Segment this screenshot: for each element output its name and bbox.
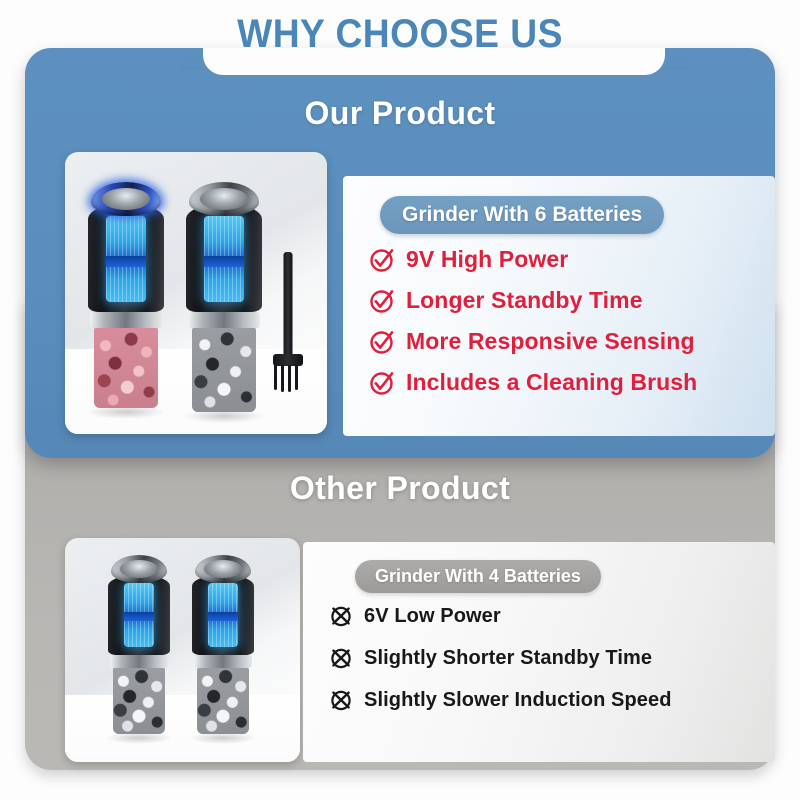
grey-salt-fill: [113, 668, 165, 734]
our-product-feature-list: 9V High Power Longer Standby Time More R…: [369, 246, 697, 410]
feature-label: More Responsive Sensing: [406, 328, 695, 355]
check-circle-icon: [369, 370, 395, 396]
feature-row: Slightly Shorter Standby Time: [329, 646, 672, 670]
feature-label: Includes a Cleaning Brush: [406, 369, 697, 396]
brush-bristle: [281, 365, 284, 392]
check-circle-icon: [369, 288, 395, 314]
grinder-cap-inner: [102, 188, 150, 210]
grinder-metal-ring: [194, 655, 252, 668]
brush-bristle: [288, 365, 291, 392]
other-product-features-panel: Grinder With 4 Batteries 6V Low Power Sl…: [303, 542, 775, 762]
our-product-image: [65, 152, 327, 434]
grinder-cap: [195, 555, 251, 583]
check-circle-icon: [369, 247, 395, 273]
grey-salt-fill: [197, 668, 249, 734]
cross-circle-icon: [329, 604, 353, 628]
grinder-cap-inner: [204, 560, 242, 578]
grinder-grey-1: [103, 554, 175, 738]
grinder-metal-ring: [110, 655, 168, 668]
cleaning-brush: [271, 252, 305, 392]
led-window: [208, 583, 238, 647]
grinder-metal-ring: [90, 312, 162, 328]
feature-row: 9V High Power: [369, 246, 697, 273]
check-circle-icon: [369, 329, 395, 355]
grinder-jar: [113, 668, 165, 734]
grinder-black-pepper: [183, 172, 265, 416]
feature-row: More Responsive Sensing: [369, 328, 697, 355]
grinder-cap-lit: [91, 182, 161, 216]
grinder-body: [108, 575, 170, 655]
brush-bristle: [295, 365, 298, 390]
grinder-cap: [189, 182, 259, 216]
led-window: [124, 583, 154, 647]
feature-row: Slightly Slower Induction Speed: [329, 688, 672, 712]
other-product-feature-list: 6V Low Power Slightly Shorter Standby Ti…: [329, 604, 672, 730]
feature-label: 6V Low Power: [364, 605, 501, 628]
grinder-jar: [192, 328, 256, 412]
grinder-body: [186, 204, 262, 312]
page-title: WHY CHOOSE US: [28, 12, 772, 57]
grinder-pink-salt: [85, 172, 167, 412]
feature-label: Slightly Shorter Standby Time: [364, 647, 652, 670]
feature-label: Longer Standby Time: [406, 287, 643, 314]
our-product-heading: Our Product: [0, 95, 800, 132]
feature-label: 9V High Power: [406, 246, 568, 273]
other-product-image: [65, 538, 300, 762]
our-product-features-panel: Grinder With 6 Batteries 9V High Power L…: [343, 176, 775, 436]
black-pepper-fill: [192, 328, 256, 412]
led-window: [204, 216, 244, 302]
other-product-heading: Other Product: [0, 470, 800, 507]
grinder-cap-inner: [120, 560, 158, 578]
feature-row: Includes a Cleaning Brush: [369, 369, 697, 396]
cross-circle-icon: [329, 646, 353, 670]
brush-bristle: [274, 365, 277, 390]
grinder-grey-2: [187, 554, 259, 738]
feature-label: Slightly Slower Induction Speed: [364, 689, 672, 712]
our-product-pill: Grinder With 6 Batteries: [380, 196, 664, 234]
pink-salt-fill: [94, 328, 158, 408]
grinder-jar: [197, 668, 249, 734]
grinder-cap: [111, 555, 167, 583]
feature-row: 6V Low Power: [329, 604, 672, 628]
grinder-body: [88, 204, 164, 312]
brush-handle: [284, 252, 293, 358]
grinder-jar: [94, 328, 158, 408]
grinder-body: [192, 575, 254, 655]
other-product-pill: Grinder With 4 Batteries: [355, 560, 601, 593]
led-window: [106, 216, 146, 302]
grinder-metal-ring: [188, 312, 260, 328]
cross-circle-icon: [329, 688, 353, 712]
infographic-root: WHY CHOOSE US Our Product Other Product: [0, 0, 800, 800]
grinder-cap-inner: [200, 188, 248, 210]
image-floor: [65, 695, 300, 762]
feature-row: Longer Standby Time: [369, 287, 697, 314]
